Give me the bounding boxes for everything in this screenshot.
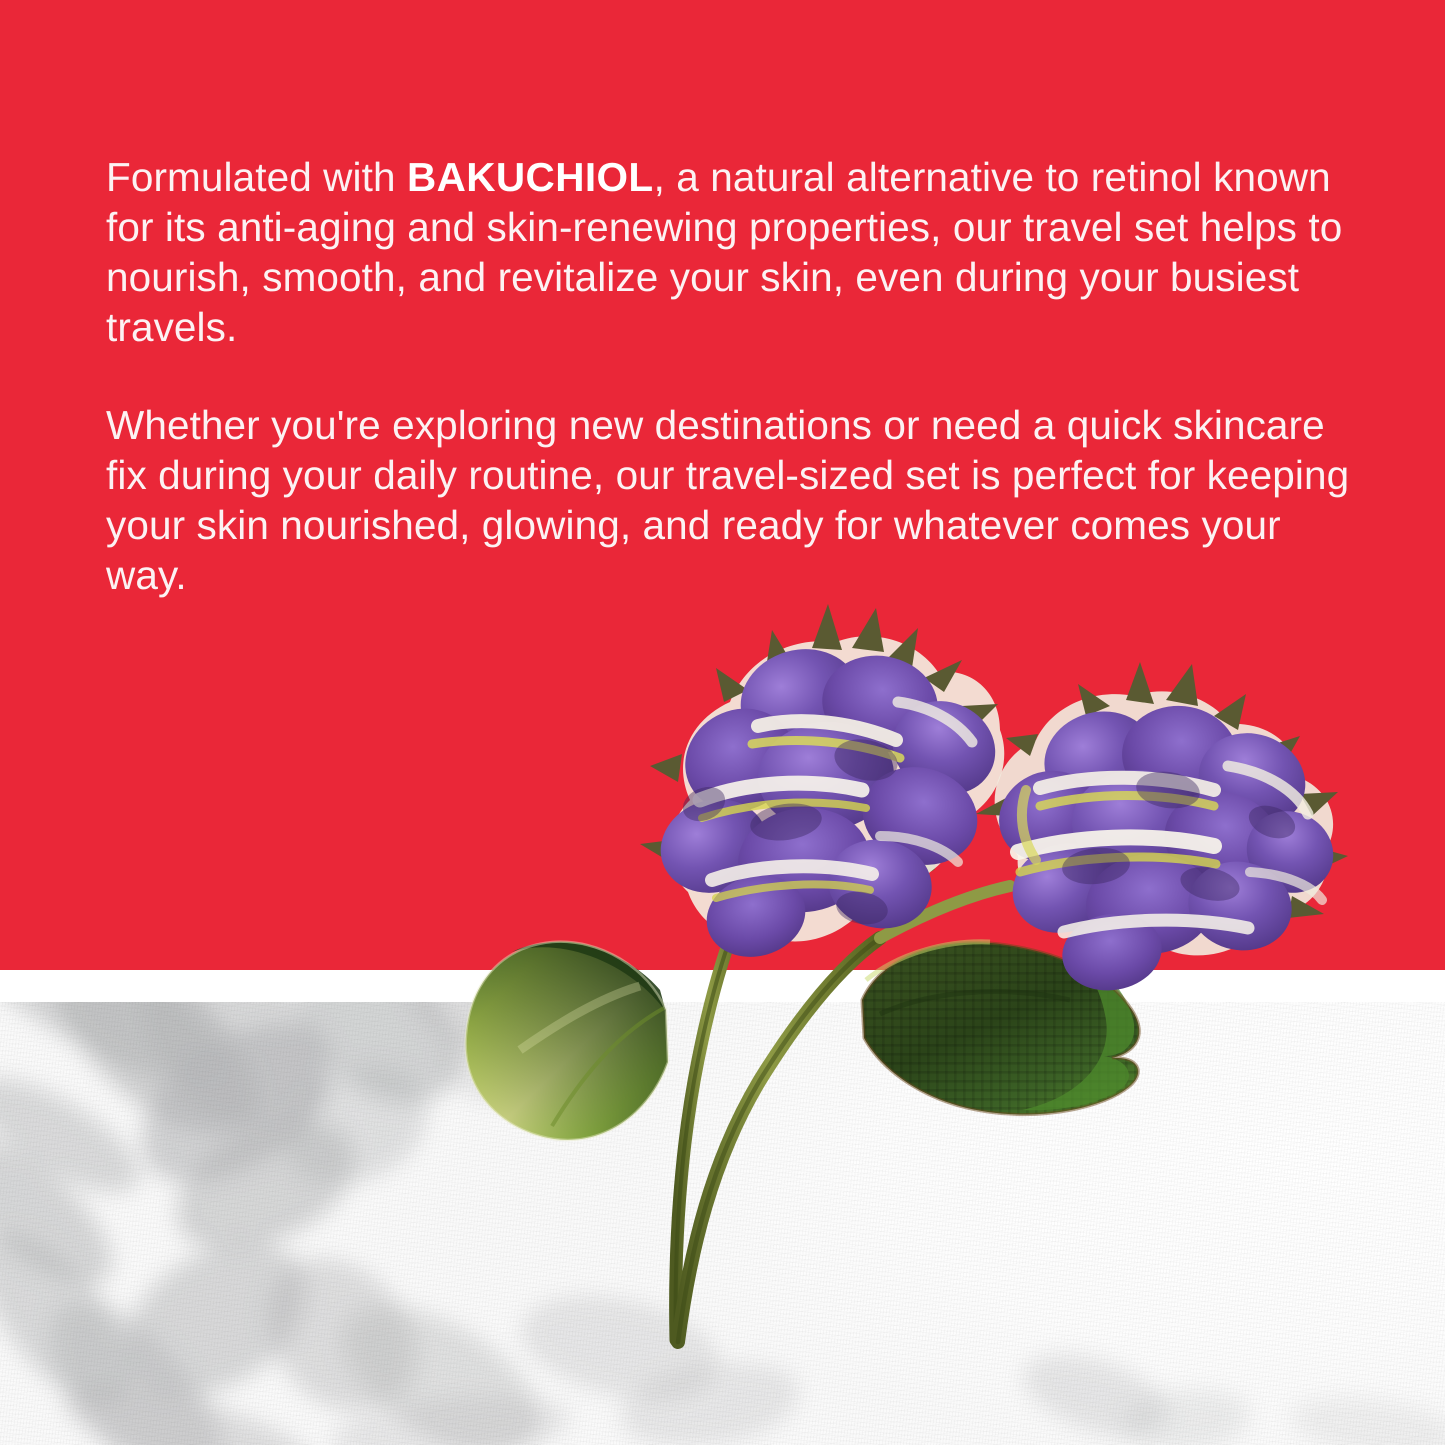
paragraph-travel-set-benefit: Whether you're exploring new destination… [106,400,1351,600]
text-formulated-with: Formulated with [106,154,407,200]
text-bakuchiol-emphasis: BAKUCHIOL [407,154,654,200]
white-clear-strip [0,970,1445,1002]
textured-surface-photo [0,970,1445,1445]
text-travel-set-body: Whether you're exploring new destination… [106,402,1349,598]
paragraph-bakuchiol-intro: Formulated with BAKUCHIOL, a natural alt… [106,152,1351,352]
product-description-card: Formulated with BAKUCHIOL, a natural alt… [0,0,1445,1445]
paper-grain-texture [0,970,1445,1445]
description-copy: Formulated with BAKUCHIOL, a natural alt… [106,152,1351,600]
